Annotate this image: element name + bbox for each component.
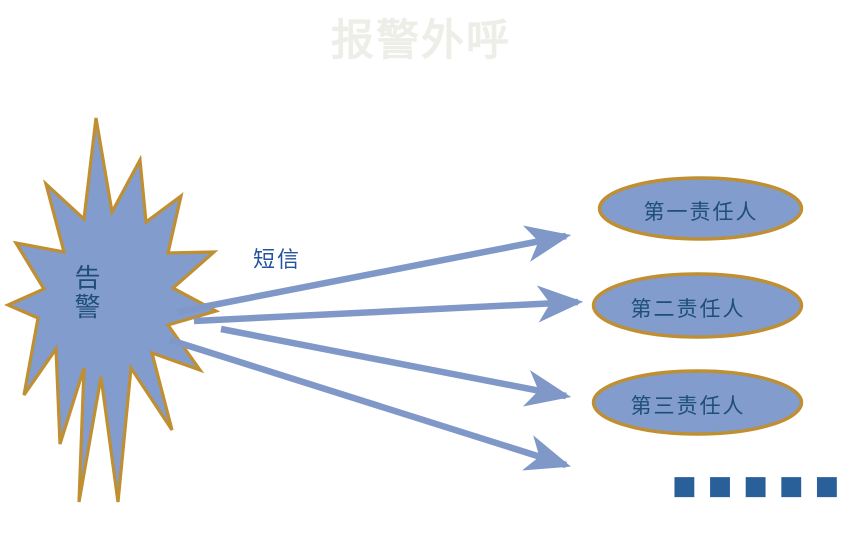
target-ellipse-3-label: 第三责任人 bbox=[585, 390, 791, 420]
target-ellipse-2-label: 第二责任人 bbox=[585, 293, 791, 323]
connector-group bbox=[170, 236, 578, 465]
alarm-burst-label-char-2: 警 bbox=[58, 293, 118, 322]
arrow-to-responsible-3[interactable] bbox=[221, 329, 566, 396]
more-indicator: ■ ■ ■ ■ ■ ■ bbox=[672, 471, 842, 501]
alarm-burst-label-char-1: 告 bbox=[58, 264, 118, 293]
arrow-to-responsible-1[interactable] bbox=[177, 236, 566, 312]
flow-label-sms: 短信 bbox=[253, 242, 301, 274]
diagram-shapes-layer bbox=[0, 0, 842, 546]
target-ellipse-1-label: 第一责任人 bbox=[598, 196, 804, 226]
alarm-burst-label: 告 警 bbox=[58, 264, 118, 322]
arrow-to-responsible-2[interactable] bbox=[194, 302, 578, 321]
slide-canvas: 报警外呼 告 警 bbox=[0, 0, 842, 546]
